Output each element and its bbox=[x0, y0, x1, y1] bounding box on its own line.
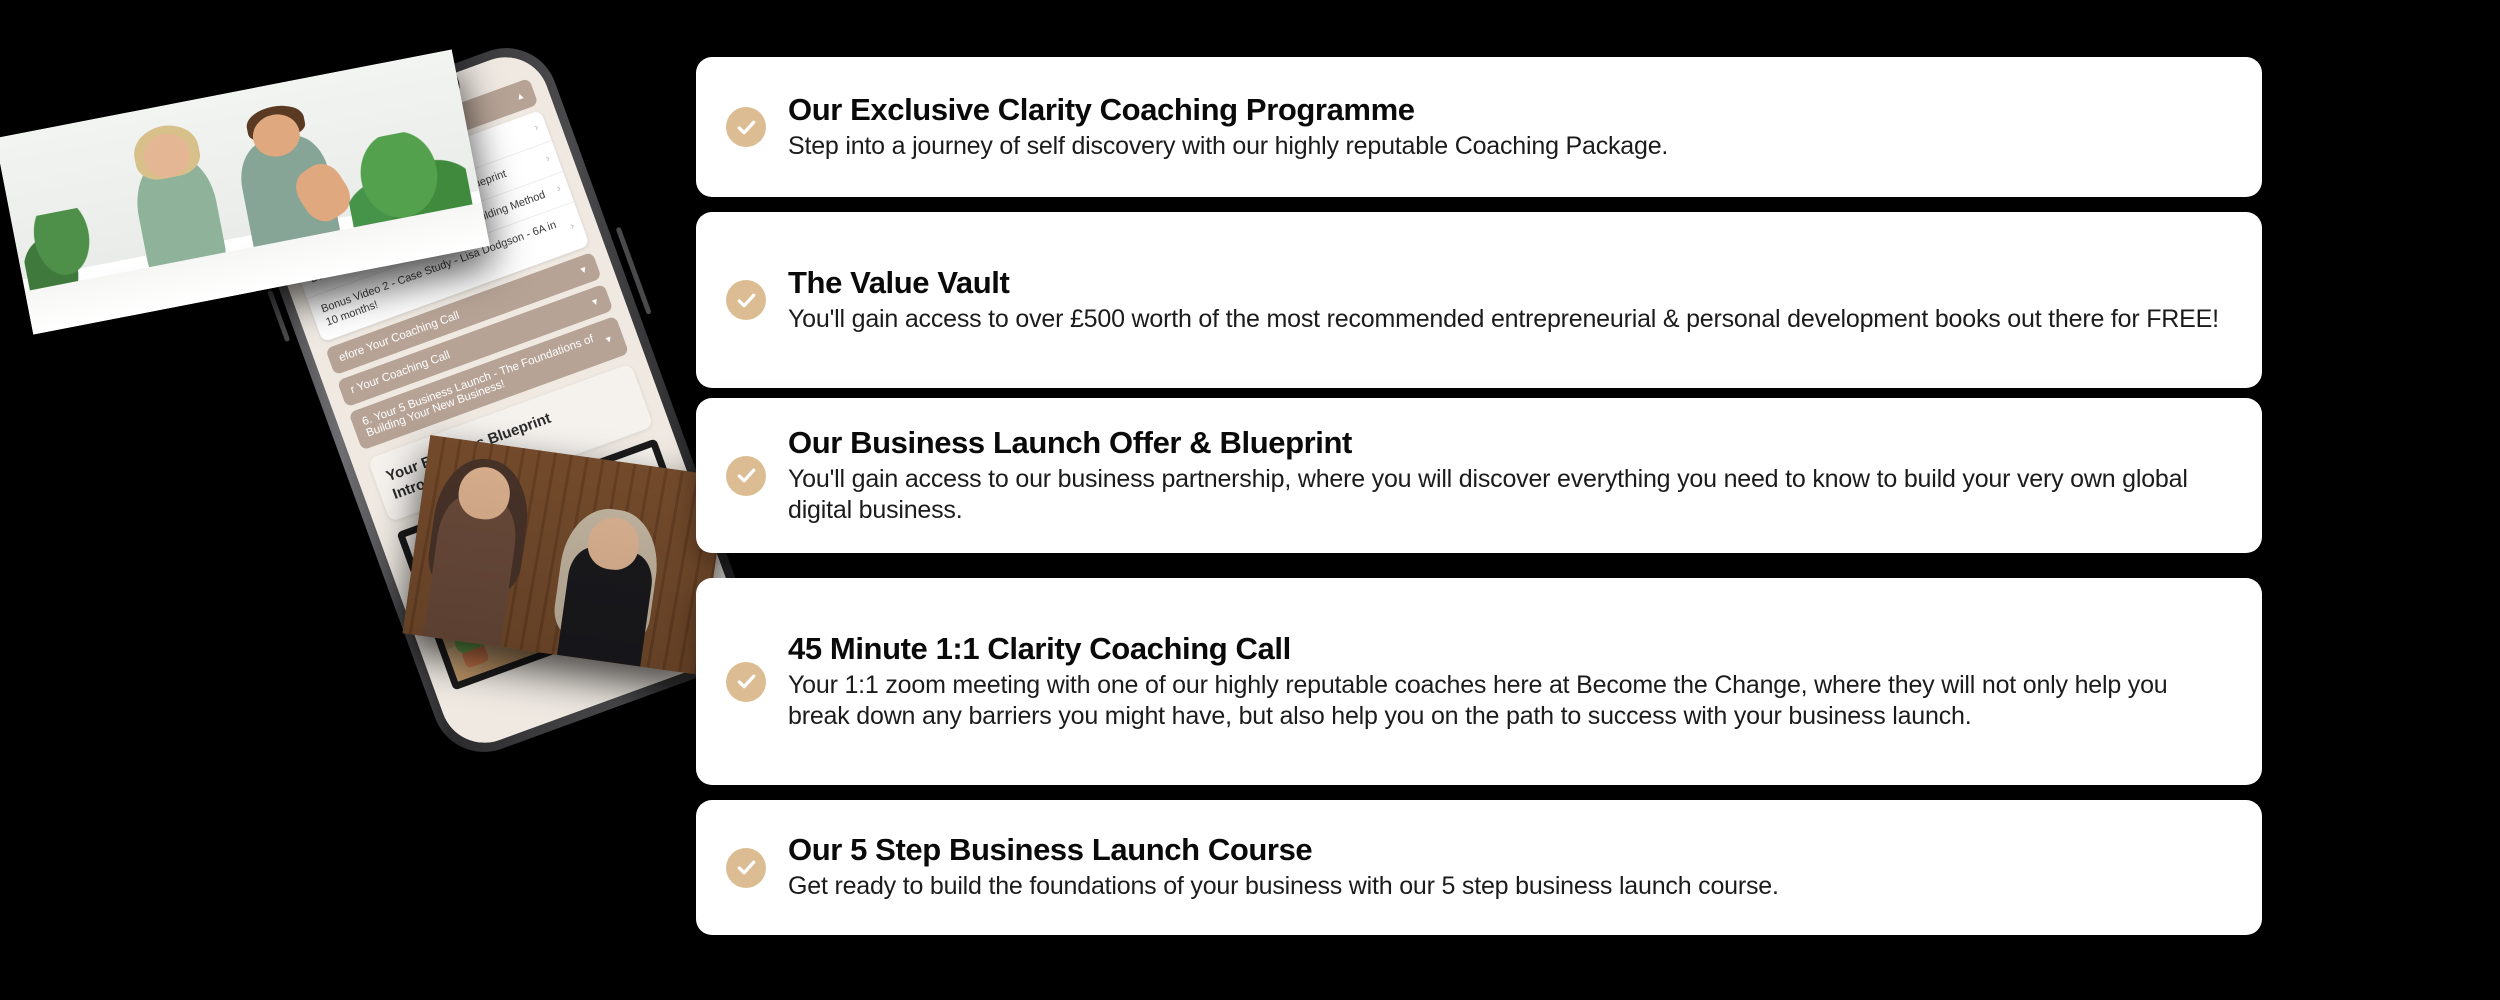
caret-down-icon: ▼ bbox=[577, 263, 589, 275]
chevron-right-icon: › bbox=[569, 220, 577, 234]
feature-body: Get ready to build the foundations of yo… bbox=[788, 871, 2232, 902]
feature-text: 45 Minute 1:1 Clarity Coaching Call Your… bbox=[788, 632, 2232, 731]
check-circle-icon bbox=[726, 280, 766, 320]
feature-card[interactable]: The Value Vault You'll gain access to ov… bbox=[696, 212, 2262, 388]
feature-text: Our Exclusive Clarity Coaching Programme… bbox=[788, 93, 2232, 162]
feature-heading: The Value Vault bbox=[788, 266, 2232, 300]
feature-body: You'll gain access to over £500 worth of… bbox=[788, 304, 2232, 335]
feature-body: You'll gain access to our business partn… bbox=[788, 464, 2232, 525]
chevron-right-icon: › bbox=[544, 152, 552, 166]
caret-down-icon: ▼ bbox=[589, 295, 601, 307]
caret-down-icon: ▼ bbox=[603, 333, 615, 345]
photo-two-women-video-thumbnail bbox=[403, 435, 728, 675]
feature-heading: 45 Minute 1:1 Clarity Coaching Call bbox=[788, 632, 2232, 666]
check-circle-icon bbox=[726, 107, 766, 147]
feature-heading: Our 5 Step Business Launch Course bbox=[788, 833, 2232, 867]
feature-card[interactable]: Our Exclusive Clarity Coaching Programme… bbox=[696, 57, 2262, 197]
product-mockup-group: 3. Your Bu ▲ Introducing our Partnership… bbox=[0, 0, 720, 1000]
feature-heading: Our Business Launch Offer & Blueprint bbox=[788, 426, 2232, 460]
feature-text: Our Business Launch Offer & Blueprint Yo… bbox=[788, 426, 2232, 525]
feature-body: Your 1:1 zoom meeting with one of our hi… bbox=[788, 670, 2232, 731]
feature-text: Our 5 Step Business Launch Course Get re… bbox=[788, 833, 2232, 902]
feature-body: Step into a journey of self discovery wi… bbox=[788, 131, 2232, 162]
photo-vignette bbox=[403, 435, 728, 675]
feature-card[interactable]: 45 Minute 1:1 Clarity Coaching Call Your… bbox=[696, 578, 2262, 785]
caret-up-icon: ▲ bbox=[514, 90, 526, 102]
check-circle-icon bbox=[726, 662, 766, 702]
phone-volume-button bbox=[267, 290, 290, 342]
feature-card[interactable]: Our 5 Step Business Launch Course Get re… bbox=[696, 800, 2262, 935]
feature-text: The Value Vault You'll gain access to ov… bbox=[788, 266, 2232, 335]
check-circle-icon bbox=[726, 456, 766, 496]
feature-card[interactable]: Our Business Launch Offer & Blueprint Yo… bbox=[696, 398, 2262, 553]
feature-card-list: Our Exclusive Clarity Coaching Programme… bbox=[696, 0, 2266, 1000]
chevron-right-icon: › bbox=[533, 121, 541, 135]
check-circle-icon bbox=[726, 848, 766, 888]
feature-heading: Our Exclusive Clarity Coaching Programme bbox=[788, 93, 2232, 127]
chevron-right-icon: › bbox=[555, 183, 563, 197]
